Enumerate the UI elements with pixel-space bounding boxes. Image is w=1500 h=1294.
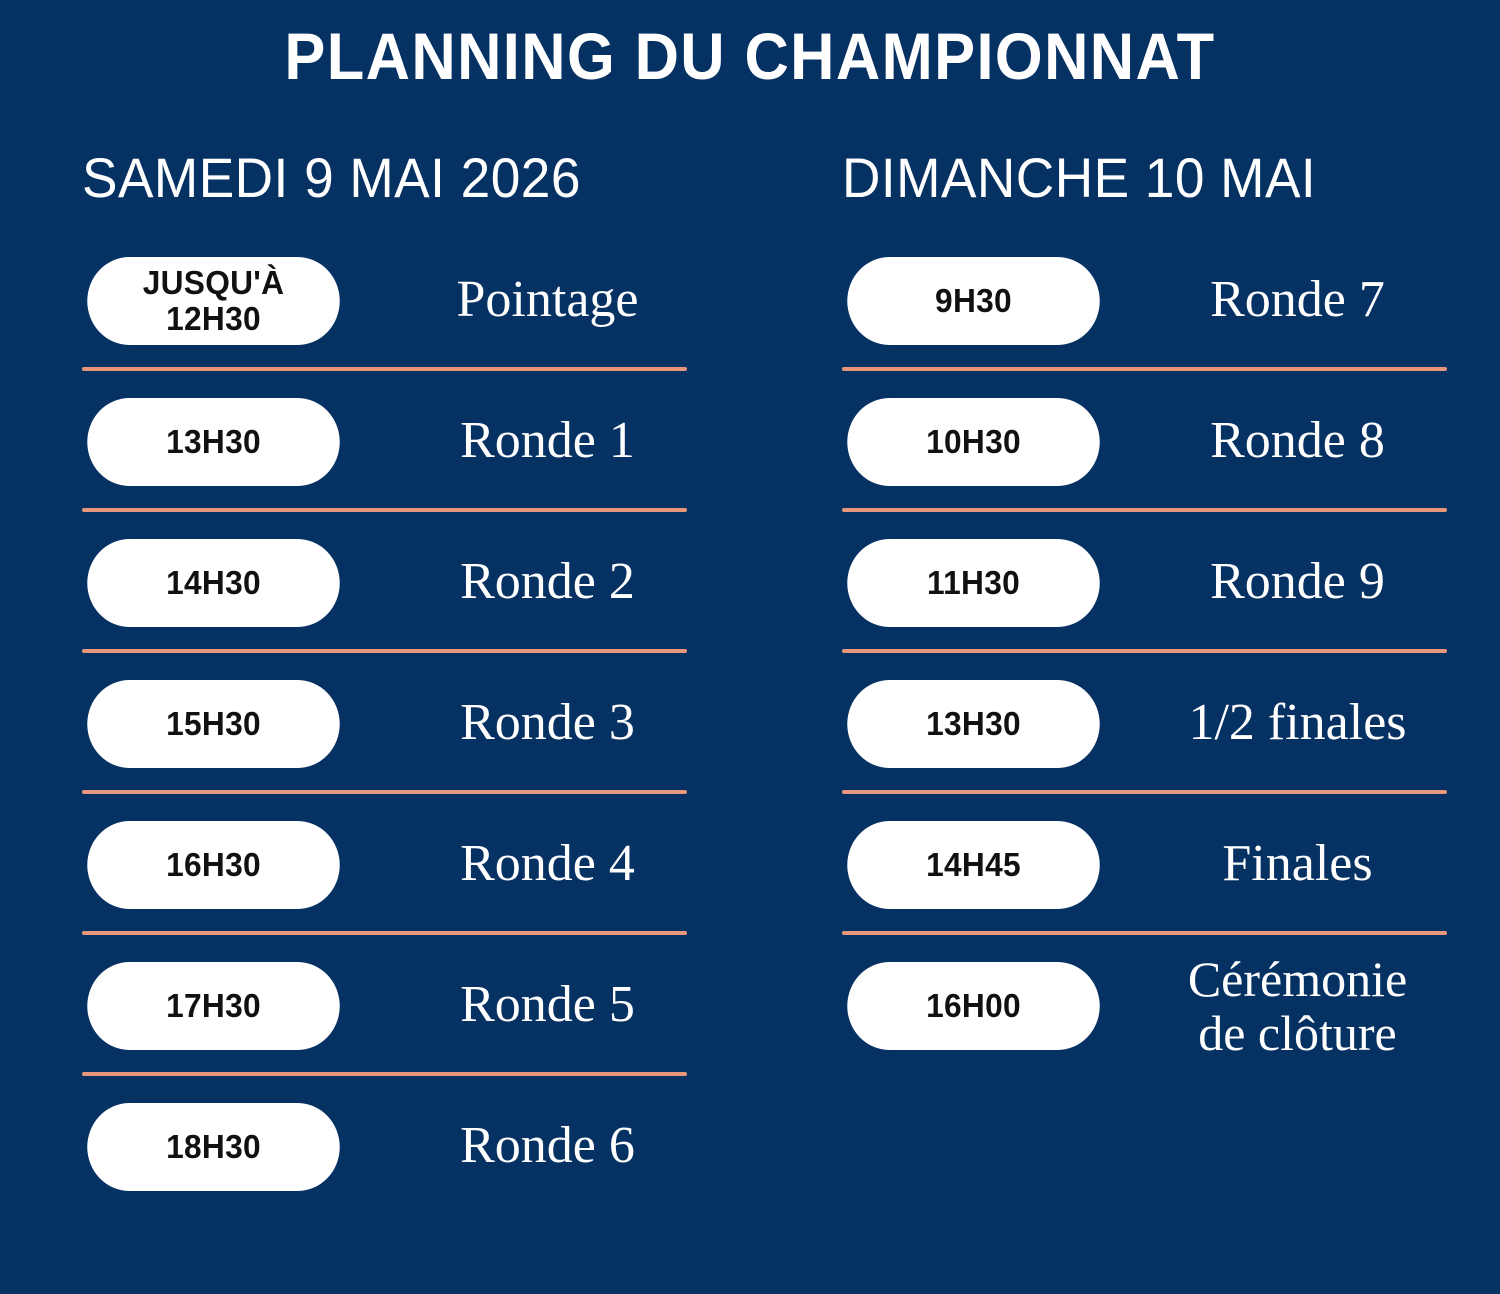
page-title: PLANNING DU CHAMPIONNAT [53,22,1448,91]
day-column-saturday: SAMEDI 9 MAI 2026 JUSQU'À 12H30 Pointage… [0,150,760,1217]
schedule-row[interactable]: 17H30 Ronde 5 [82,935,760,1076]
time-pill-line-1: 14H45 [926,847,1021,883]
schedule-row[interactable]: 13H30 1/2 finales [842,653,1500,794]
day-heading-sunday: DIMANCHE 10 MAI [842,150,1467,206]
time-pill-line-1: 14H30 [166,565,261,601]
event-label: Ronde 3 [345,695,760,751]
event-label: Ronde 9 [1105,554,1500,610]
time-pill: 14H45 [847,821,1099,909]
time-pill-line-1: 16H00 [926,988,1021,1024]
time-pill: 9H30 [847,257,1099,345]
event-label: Pointage [345,272,760,328]
time-pill-line-1: JUSQU'À [143,265,285,301]
schedule-row[interactable]: JUSQU'À 12H30 Pointage [82,230,760,371]
schedule-row[interactable]: 10H30 Ronde 8 [842,371,1500,512]
time-pill: 18H30 [87,1103,339,1191]
schedule-row[interactable]: 14H30 Ronde 2 [82,512,760,653]
event-label: Finales [1105,836,1500,892]
time-pill-line-1: 10H30 [926,424,1021,460]
time-pill-line-1: 17H30 [166,988,261,1024]
schedule-row[interactable]: 13H30 Ronde 1 [82,371,760,512]
championship-schedule-poster: PLANNING DU CHAMPIONNAT SAMEDI 9 MAI 202… [0,0,1500,1294]
time-pill-line-1: 13H30 [166,424,261,460]
time-pill: 15H30 [87,680,339,768]
event-label: Ronde 8 [1105,413,1500,469]
schedule-row[interactable]: 9H30 Ronde 7 [842,230,1500,371]
day-column-sunday: DIMANCHE 10 MAI 9H30 Ronde 7 10H30 Ronde… [760,150,1500,1076]
schedule-row[interactable]: 16H30 Ronde 4 [82,794,760,935]
time-pill: 17H30 [87,962,339,1050]
schedule-rows-sunday: 9H30 Ronde 7 10H30 Ronde 8 11H30 [842,230,1500,1076]
schedule-columns: SAMEDI 9 MAI 2026 JUSQU'À 12H30 Pointage… [0,150,1500,1217]
time-pill: 16H30 [87,821,339,909]
schedule-row[interactable]: 15H30 Ronde 3 [82,653,760,794]
time-pill: 14H30 [87,539,339,627]
time-pill-line-2: 12H30 [166,301,261,337]
schedule-row[interactable]: 14H45 Finales [842,794,1500,935]
time-pill: 10H30 [847,398,1099,486]
time-pill: 16H00 [847,962,1099,1050]
time-pill-line-1: 9H30 [935,283,1012,319]
event-label: 1/2 finales [1105,695,1500,751]
time-pill-line-1: 16H30 [166,847,261,883]
day-heading-saturday: SAMEDI 9 MAI 2026 [82,150,726,206]
event-label: Ronde 5 [345,977,760,1033]
event-label: Ronde 7 [1105,272,1500,328]
event-label: Ronde 4 [345,836,760,892]
event-label: Ronde 6 [345,1118,760,1174]
schedule-row[interactable]: 16H00 Cérémonie de clôture [842,935,1500,1076]
time-pill-line-1: 13H30 [926,706,1021,742]
time-pill: JUSQU'À 12H30 [87,257,339,345]
time-pill: 13H30 [847,680,1099,768]
time-pill: 11H30 [847,539,1099,627]
event-label: Ronde 2 [345,554,760,610]
time-pill-line-1: 18H30 [166,1129,261,1165]
event-label: Cérémonie de clôture [1105,952,1500,1060]
schedule-rows-saturday: JUSQU'À 12H30 Pointage 13H30 Ronde 1 14H [82,230,760,1217]
time-pill-line-1: 15H30 [166,706,261,742]
schedule-row[interactable]: 11H30 Ronde 9 [842,512,1500,653]
time-pill: 13H30 [87,398,339,486]
event-label: Ronde 1 [345,413,760,469]
time-pill-line-1: 11H30 [927,565,1020,601]
schedule-row[interactable]: 18H30 Ronde 6 [82,1076,760,1217]
